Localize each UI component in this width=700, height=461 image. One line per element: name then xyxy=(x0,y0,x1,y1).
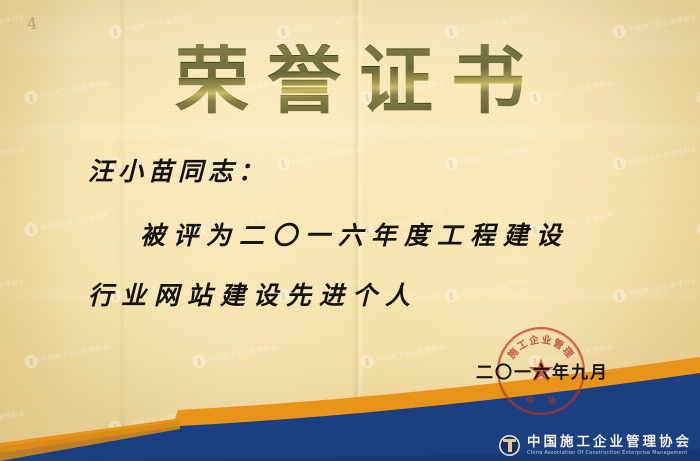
svg-text:施工企业管理: 施工企业管理 xyxy=(505,333,577,362)
page-title: 荣誉证书 xyxy=(0,44,700,118)
honor-certificate: 中国施工企业管理协会中国施工企业管理协会中国施工企业管理协会中国施工企业管理协会… xyxy=(0,0,700,461)
citation-line-1: 被评为二〇一六年度工程建设 xyxy=(140,216,569,252)
citation-line-2: 行业网站建设先进个人 xyxy=(88,276,418,312)
handwritten-page-number: 4 xyxy=(26,14,38,34)
issue-date: 二〇一六年九月 xyxy=(476,358,609,383)
seal-bottom-text: 中协 xyxy=(499,395,583,406)
recipient-name: 汪小苗同志： xyxy=(88,152,268,188)
